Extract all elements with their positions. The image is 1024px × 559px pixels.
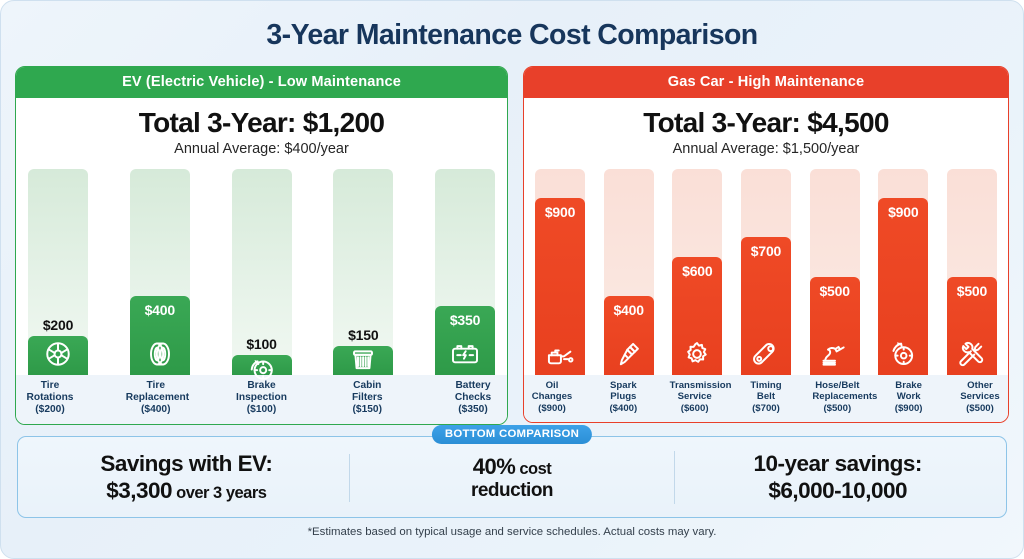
bar-column: $100	[232, 169, 292, 375]
axis-label-name: Brake Work	[895, 380, 922, 402]
bar-gas-1[interactable]: $400	[604, 296, 654, 375]
bar-column: $150	[333, 169, 393, 375]
panel-gas-header: Gas Car - High Maintenance	[524, 67, 1008, 98]
infographic-root: 3-Year Maintenance Cost Comparison EV (E…	[0, 0, 1024, 559]
axis-label: Transmission Service($600)	[670, 380, 720, 414]
axis-label: Tire Rotations($200)	[20, 380, 80, 416]
reduction-unit: cost	[515, 460, 551, 478]
spark-plug-icon	[616, 340, 642, 368]
reduction-percent: 40%	[473, 454, 516, 479]
axis-label-cost: ($600)	[670, 403, 720, 414]
bar-track: $700	[741, 169, 791, 375]
brake-disc-icon	[248, 355, 276, 383]
bar-value-label: $400	[145, 303, 175, 317]
wheel-icon	[44, 340, 72, 368]
panel-gas-total: Total 3-Year: $4,500	[532, 107, 1000, 138]
bar-value-label: $400	[613, 303, 643, 317]
bottom-cell-reduction: 40% cost reduction	[349, 454, 675, 502]
axis-label-cost: ($900)	[884, 403, 934, 414]
timing-belt-icon	[752, 340, 780, 368]
bar-gas-5[interactable]: $900	[878, 198, 928, 375]
bar-value-label: $900	[888, 205, 918, 219]
oil-can-icon	[545, 342, 575, 368]
axis-label: Brake Work($900)	[884, 380, 934, 414]
axis-label-cost: ($500)	[812, 403, 862, 414]
axis-label-name: Timing Belt	[750, 380, 781, 402]
bar-column: $500	[810, 169, 860, 375]
axis-label: Other Services($500)	[955, 380, 1005, 414]
panel-ev-body: Total 3-Year: $1,200 Annual Average: $40…	[16, 98, 507, 375]
axis-gas: Oil Changes($900)Spark Plugs($400)Transm…	[524, 375, 1008, 422]
tire-icon	[146, 340, 174, 368]
bottom-comparison-badge: BOTTOM COMPARISON	[432, 425, 592, 444]
bar-ev-3[interactable]: $150	[333, 346, 393, 376]
axis-label-name: Hose/Belt Replacements	[812, 380, 877, 402]
axis-label: Timing Belt($700)	[741, 380, 791, 414]
axis-label: Spark Plugs($400)	[598, 380, 648, 414]
panel-ev: EV (Electric Vehicle) - Low Maintenance …	[15, 66, 508, 425]
bar-track: $900	[878, 169, 928, 375]
panel-ev-total: Total 3-Year: $1,200	[24, 107, 499, 138]
bottom-comparison: BOTTOM COMPARISON Savings with EV: $3,30…	[17, 436, 1007, 518]
bar-column: $350	[435, 169, 495, 375]
axis-label: Hose/Belt Replacements($500)	[812, 380, 862, 414]
axis-label-cost: ($400)	[598, 403, 648, 414]
bar-track: $500	[810, 169, 860, 375]
axis-label: Tire Replacement($400)	[126, 380, 186, 416]
wrench-icon	[958, 340, 986, 368]
bar-column: $600	[672, 169, 722, 375]
panels-row: EV (Electric Vehicle) - Low Maintenance …	[1, 51, 1023, 425]
bar-track: $900	[535, 169, 585, 375]
savings-amount: $3,300	[106, 478, 172, 503]
bottom-cell-savings: Savings with EV: $3,300 over 3 years	[24, 451, 349, 504]
axis-label-name: Brake Inspection	[236, 380, 287, 403]
axis-label-name: Oil Changes	[532, 380, 573, 402]
gear-icon	[683, 340, 711, 368]
air-filter-icon	[349, 346, 377, 374]
axis-label-cost: ($350)	[443, 404, 503, 416]
bar-value-label: $500	[819, 284, 849, 298]
bar-ev-1[interactable]: $400	[130, 296, 190, 375]
battery-icon	[450, 340, 480, 368]
axis-label-name: Other Services	[960, 380, 999, 402]
axis-label-name: Cabin Filters	[352, 380, 383, 403]
bar-value-label: $200	[43, 318, 73, 332]
bar-ev-4[interactable]: $350	[435, 306, 495, 375]
axis-label-cost: ($900)	[527, 403, 577, 414]
bar-track: $400	[604, 169, 654, 375]
bar-gas-0[interactable]: $900	[535, 198, 585, 375]
bar-column: $400	[130, 169, 190, 375]
bar-track: $600	[672, 169, 722, 375]
tenyear-amount: $6,000-10,000	[681, 478, 994, 505]
bar-track: $200	[28, 169, 88, 375]
chart-ev: $200$400$100$150$350	[24, 169, 499, 375]
panel-ev-header: EV (Electric Vehicle) - Low Maintenance	[16, 67, 507, 98]
brake-rotor-icon	[889, 340, 917, 368]
axis-label-name: Spark Plugs	[610, 380, 637, 402]
bar-value-label: $500	[957, 284, 987, 298]
axis-label-name: Battery Checks	[455, 380, 491, 403]
bar-column: $900	[535, 169, 585, 375]
bar-track: $400	[130, 169, 190, 375]
bar-track: $100	[232, 169, 292, 375]
axis-label-cost: ($150)	[337, 404, 397, 416]
axis-label: Oil Changes($900)	[527, 380, 577, 414]
savings-amount-line: $3,300 over 3 years	[30, 478, 343, 505]
savings-heading: Savings with EV:	[30, 451, 343, 478]
panel-ev-average: Annual Average: $400/year	[24, 141, 499, 158]
bar-gas-2[interactable]: $600	[672, 257, 722, 375]
reduction-word: reduction	[356, 480, 669, 502]
page-title: 3-Year Maintenance Cost Comparison	[1, 1, 1023, 51]
axis-label-name: Tire Replacement	[126, 380, 189, 403]
bar-column: $400	[604, 169, 654, 375]
bottom-comparison-box: Savings with EV: $3,300 over 3 years 40%…	[17, 436, 1007, 518]
bar-value-label: $150	[348, 328, 378, 342]
bar-column: $200	[28, 169, 88, 375]
bar-track: $350	[435, 169, 495, 375]
bar-track: $500	[947, 169, 997, 375]
panel-gas: Gas Car - High Maintenance Total 3-Year:…	[523, 66, 1009, 423]
axis-label: Battery Checks($350)	[443, 380, 503, 416]
bar-ev-2[interactable]: $100	[232, 355, 292, 375]
bar-gas-3[interactable]: $700	[741, 237, 791, 375]
bar-value-label: $600	[682, 264, 712, 278]
axis-label-cost: ($500)	[955, 403, 1005, 414]
axis-label-name: Transmission Service	[670, 380, 732, 402]
bar-gas-4[interactable]: $500	[810, 277, 860, 375]
chart-gas: $900$400$600$700$500$900$500	[532, 169, 1000, 375]
panel-gas-average: Annual Average: $1,500/year	[532, 141, 1000, 158]
bar-value-label: $100	[246, 337, 276, 351]
bar-column: $900	[878, 169, 928, 375]
tenyear-heading: 10-year savings:	[681, 451, 994, 478]
axis-label-cost: ($200)	[20, 404, 80, 416]
bar-track: $150	[333, 169, 393, 375]
axis-label: Cabin Filters($150)	[337, 380, 397, 416]
axis-label: Brake Inspection($100)	[232, 380, 292, 416]
bar-value-label: $350	[450, 313, 480, 327]
bar-column: $500	[947, 169, 997, 375]
bar-value-label: $700	[751, 244, 781, 258]
bar-value-label: $900	[545, 205, 575, 219]
panel-gas-body: Total 3-Year: $4,500 Annual Average: $1,…	[524, 98, 1008, 375]
bar-ev-0[interactable]: $200	[28, 336, 88, 375]
bar-gas-6[interactable]: $500	[947, 277, 997, 375]
hose-icon	[820, 340, 850, 368]
savings-period: over 3 years	[172, 484, 266, 502]
bar-column: $700	[741, 169, 791, 375]
reduction-percent-line: 40% cost	[356, 454, 669, 480]
axis-label-cost: ($100)	[232, 404, 292, 416]
footnote: *Estimates based on typical usage and se…	[1, 526, 1023, 538]
axis-label-cost: ($400)	[126, 404, 186, 416]
bottom-cell-tenyear: 10-year savings: $6,000-10,000	[674, 451, 1000, 504]
axis-label-name: Tire Rotations	[27, 380, 74, 403]
axis-label-cost: ($700)	[741, 403, 791, 414]
